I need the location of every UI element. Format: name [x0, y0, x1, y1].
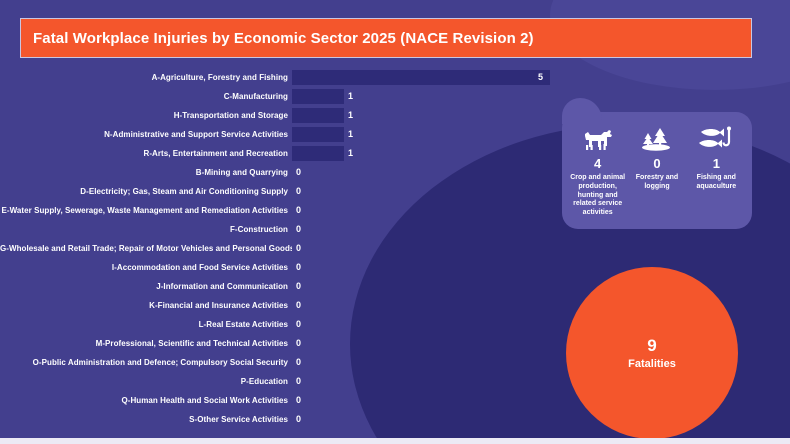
chart-row: D-Electricity; Gas, Steam and Air Condit… [0, 182, 560, 201]
chart-row: R-Arts, Entertainment and Recreation1 [0, 144, 560, 163]
chart-row-label: K-Financial and Insurance Activities [0, 301, 292, 310]
dashboard-title-bar: Fatal Workplace Injuries by Economic Sec… [20, 18, 752, 58]
subsector-label: Crop and animal production, hunting and … [568, 174, 627, 218]
chart-bar-track: 0 [292, 391, 560, 410]
chart-row-label: O-Public Administration and Defence; Com… [0, 358, 292, 367]
chart-bar-value: 0 [296, 244, 301, 253]
chart-bar-value: 0 [296, 320, 301, 329]
chart-row-label: Q-Human Health and Social Work Activitie… [0, 396, 292, 405]
chart-row: F-Construction0 [0, 220, 560, 239]
chart-bar-value: 1 [348, 92, 353, 101]
chart-row: A-Agriculture, Forestry and Fishing5 [0, 68, 560, 87]
subsector-item: 4Crop and animal production, hunting and… [568, 120, 627, 218]
chart-bar-track: 1 [292, 106, 560, 125]
chart-bar-value: 1 [348, 111, 353, 120]
sector-bar-chart: A-Agriculture, Forestry and Fishing5C-Ma… [0, 68, 560, 428]
chart-bar-track: 0 [292, 220, 560, 239]
chart-bar [292, 146, 344, 161]
chart-bar [292, 127, 344, 142]
chart-bar-value: 0 [296, 206, 301, 215]
chart-row-label: L-Real Estate Activities [0, 320, 292, 329]
chart-row-label: F-Construction [0, 225, 292, 234]
chart-row: K-Financial and Insurance Activities0 [0, 296, 560, 315]
chart-bar-track: 0 [292, 296, 560, 315]
subsector-item: 0Forestry and logging [627, 120, 686, 192]
chart-row-label: H-Transportation and Storage [0, 111, 292, 120]
fish-hook-icon [698, 120, 734, 154]
chart-row-label: P-Education [0, 377, 292, 386]
chart-row: E-Water Supply, Sewerage, Waste Manageme… [0, 201, 560, 220]
chart-row-label: G-Wholesale and Retail Trade; Repair of … [0, 244, 292, 253]
chart-bar [292, 108, 344, 123]
chart-bar-track: 0 [292, 201, 560, 220]
chart-row: B-Mining and Quarrying0 [0, 163, 560, 182]
chart-bar-value: 0 [296, 168, 301, 177]
subsector-value: 1 [713, 157, 720, 170]
page-title: Fatal Workplace Injuries by Economic Sec… [21, 30, 534, 47]
chart-bar-track: 0 [292, 163, 560, 182]
chart-bar-track: 5 [292, 68, 560, 87]
chart-bar-track: 0 [292, 182, 560, 201]
trees-icon [640, 120, 674, 154]
chart-row: G-Wholesale and Retail Trade; Repair of … [0, 239, 560, 258]
chart-row-label: C-Manufacturing [0, 92, 292, 101]
chart-row: Q-Human Health and Social Work Activitie… [0, 391, 560, 410]
chart-row: I-Accommodation and Food Service Activit… [0, 258, 560, 277]
chart-bar-value: 0 [296, 282, 301, 291]
total-fatalities-label: Fatalities [628, 359, 676, 370]
chart-bar-value: 0 [296, 301, 301, 310]
chart-row: H-Transportation and Storage1 [0, 106, 560, 125]
chart-bar-value: 5 [538, 73, 543, 82]
chart-row: M-Professional, Scientific and Technical… [0, 334, 560, 353]
subsector-label: Fishing and aquaculture [687, 174, 746, 192]
subsector-value: 4 [594, 157, 601, 170]
chart-bar-track: 0 [292, 410, 560, 429]
chart-bar-track: 0 [292, 258, 560, 277]
chart-bar-track: 1 [292, 125, 560, 144]
chart-bar-value: 0 [296, 339, 301, 348]
chart-row-label: I-Accommodation and Food Service Activit… [0, 263, 292, 272]
chart-bar-value: 0 [296, 225, 301, 234]
subsector-item: 1Fishing and aquaculture [687, 120, 746, 192]
chart-row-label: A-Agriculture, Forestry and Fishing [0, 73, 292, 82]
chart-row-label: R-Arts, Entertainment and Recreation [0, 149, 292, 158]
total-fatalities-value: 9 [647, 337, 656, 354]
subsector-value: 0 [653, 157, 660, 170]
subsector-label: Forestry and logging [627, 174, 686, 192]
agriculture-subsector-card: 4Crop and animal production, hunting and… [562, 112, 752, 229]
cow-icon [581, 120, 615, 154]
chart-bar-value: 1 [348, 149, 353, 158]
chart-row: S-Other Service Activities0 [0, 410, 560, 429]
chart-bar-track: 0 [292, 315, 560, 334]
chart-bar [292, 89, 344, 104]
chart-row: C-Manufacturing1 [0, 87, 560, 106]
chart-row: N-Administrative and Support Service Act… [0, 125, 560, 144]
chart-row-label: J-Information and Communication [0, 282, 292, 291]
chart-bar-value: 1 [348, 130, 353, 139]
chart-bar [292, 70, 550, 85]
chart-bar-track: 0 [292, 372, 560, 391]
chart-bar-value: 0 [296, 263, 301, 272]
chart-row-label: N-Administrative and Support Service Act… [0, 130, 292, 139]
chart-bar-value: 0 [296, 187, 301, 196]
chart-row-label: B-Mining and Quarrying [0, 168, 292, 177]
chart-bar-track: 0 [292, 334, 560, 353]
chart-bar-track: 1 [292, 144, 560, 163]
chart-bar-track: 1 [292, 87, 560, 106]
chart-bar-track: 0 [292, 239, 560, 258]
chart-bar-value: 0 [296, 396, 301, 405]
chart-bar-value: 0 [296, 358, 301, 367]
chart-row: P-Education0 [0, 372, 560, 391]
chart-bar-track: 0 [292, 277, 560, 296]
chart-row-label: M-Professional, Scientific and Technical… [0, 339, 292, 348]
chart-row-label: S-Other Service Activities [0, 415, 292, 424]
chart-bar-track: 0 [292, 353, 560, 372]
chart-row: J-Information and Communication0 [0, 277, 560, 296]
chart-row-label: D-Electricity; Gas, Steam and Air Condit… [0, 187, 292, 196]
chart-row: L-Real Estate Activities0 [0, 315, 560, 334]
dashboard-canvas: Fatal Workplace Injuries by Economic Sec… [0, 0, 790, 444]
chart-row: O-Public Administration and Defence; Com… [0, 353, 560, 372]
chart-bar-value: 0 [296, 377, 301, 386]
chart-row-label: E-Water Supply, Sewerage, Waste Manageme… [0, 206, 292, 215]
bottom-edge-strip [0, 438, 790, 444]
chart-bar-value: 0 [296, 415, 301, 424]
total-fatalities-badge: 9 Fatalities [566, 267, 738, 439]
